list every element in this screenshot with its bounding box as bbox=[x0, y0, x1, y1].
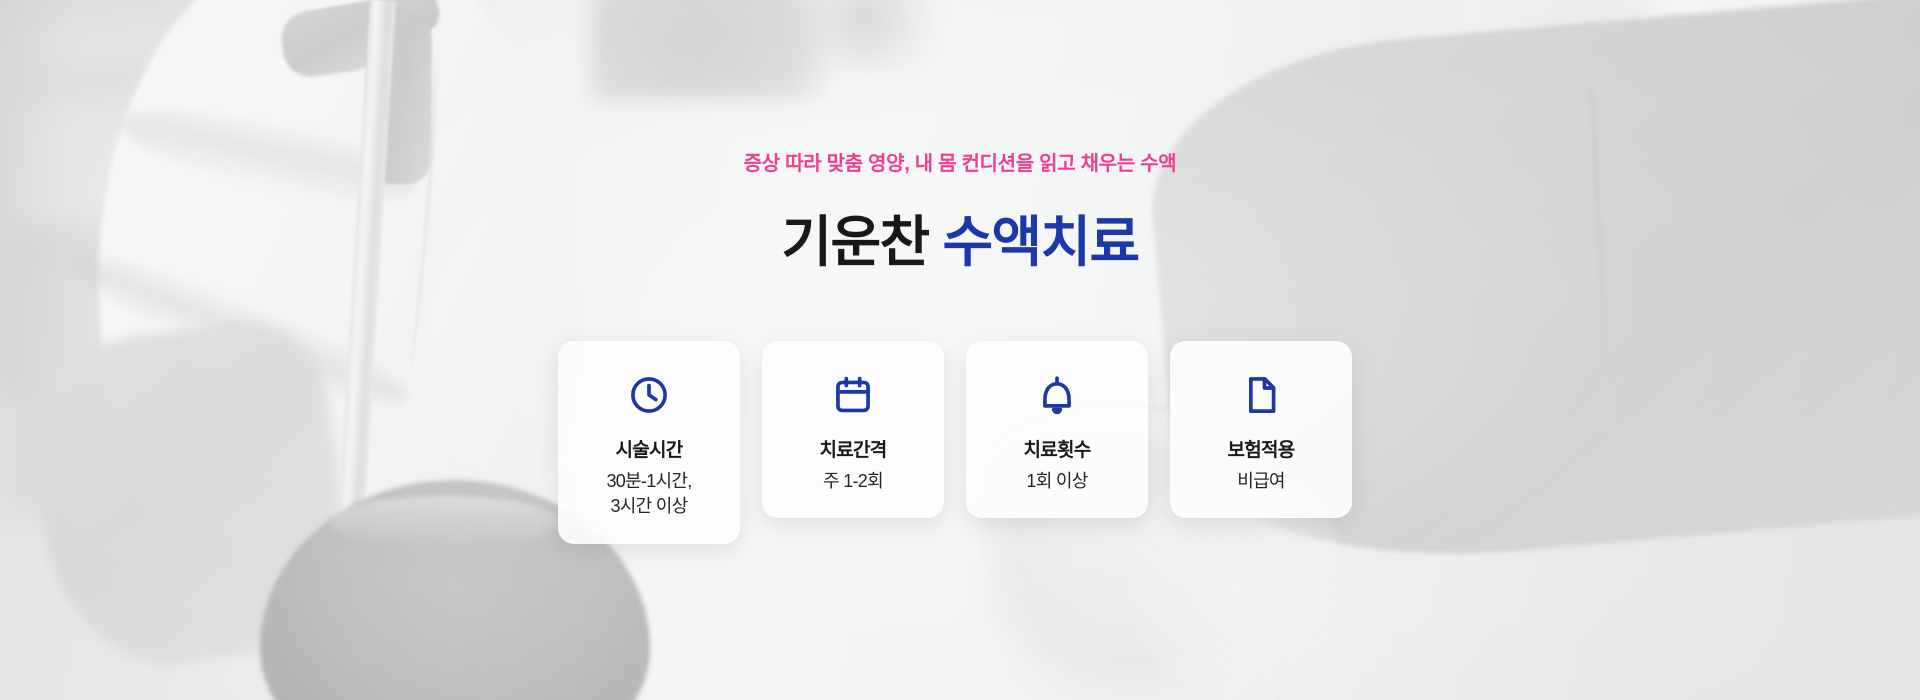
info-card-treatment-time[interactable]: 시술시간 30분-1시간, 3시간 이상 bbox=[558, 341, 740, 544]
bell-icon bbox=[1035, 373, 1079, 417]
calendar-icon bbox=[831, 373, 875, 417]
info-card-description: 30분-1시간, 3시간 이상 bbox=[606, 469, 691, 519]
info-card-list: 시술시간 30분-1시간, 3시간 이상 치료간격 주 1-2회 bbox=[558, 341, 1370, 544]
info-card-description: 주 1-2회 bbox=[823, 469, 883, 494]
page-title-accent: 수액치료 bbox=[943, 211, 1139, 273]
info-card-description: 비급여 bbox=[1237, 469, 1285, 494]
info-card-insurance[interactable]: 보험적용 비급여 bbox=[1170, 341, 1352, 518]
info-card-title: 치료간격 bbox=[819, 439, 886, 464]
hero-section: 증상 따라 맞춤 영양, 내 몸 컨디션을 읽고 채우는 수액 기운찬수액치료 … bbox=[0, 0, 1920, 700]
info-card-title: 보험적용 bbox=[1227, 439, 1294, 464]
hero-content: 증상 따라 맞춤 영양, 내 몸 컨디션을 읽고 채우는 수액 기운찬수액치료 … bbox=[0, 0, 1920, 700]
document-icon bbox=[1239, 373, 1283, 417]
clock-icon bbox=[627, 373, 671, 417]
page-title-primary: 기운찬 bbox=[781, 211, 928, 273]
info-card-treatment-interval[interactable]: 치료간격 주 1-2회 bbox=[762, 341, 944, 518]
info-card-title: 시술시간 bbox=[615, 439, 682, 464]
info-card-title: 치료횟수 bbox=[1023, 439, 1090, 464]
info-card-description: 1회 이상 bbox=[1026, 469, 1087, 494]
hero-eyebrow-text: 증상 따라 맞춤 영양, 내 몸 컨디션을 읽고 채우는 수액 bbox=[0, 147, 1920, 176]
info-card-treatment-count[interactable]: 치료횟수 1회 이상 bbox=[966, 341, 1148, 518]
page-title: 기운찬수액치료 bbox=[0, 211, 1920, 274]
